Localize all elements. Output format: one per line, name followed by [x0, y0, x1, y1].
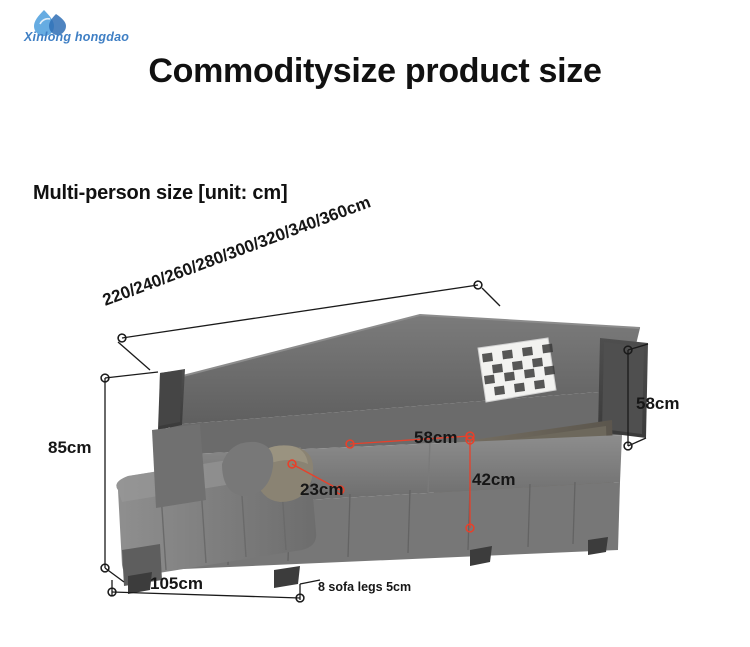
checkered-pillow [478, 338, 556, 402]
leg-callout-line [300, 580, 320, 584]
product-size-infographic: Xinlong hongdao Commoditysize product si… [0, 0, 750, 647]
dimension-label-arm-width: 23cm [300, 480, 343, 500]
dimension-label-height: 85cm [48, 438, 91, 458]
brand-logo-text: Xinlong hongdao [24, 30, 129, 44]
dimension-label-depth: 105cm [150, 574, 203, 594]
page-title: Commoditysize product size [0, 52, 750, 91]
legs-note-label: 8 sofa legs 5cm [318, 580, 411, 594]
brand-logo: Xinlong hongdao [18, 6, 168, 52]
dimension-label-back-height: 58cm [636, 394, 679, 414]
dimension-label-seat-height: 42cm [472, 470, 515, 490]
section-subtitle: Multi-person size [unit: cm] [33, 182, 287, 205]
sofa-body [116, 315, 648, 594]
dimension-label-seat-depth: 58cm [414, 428, 457, 448]
